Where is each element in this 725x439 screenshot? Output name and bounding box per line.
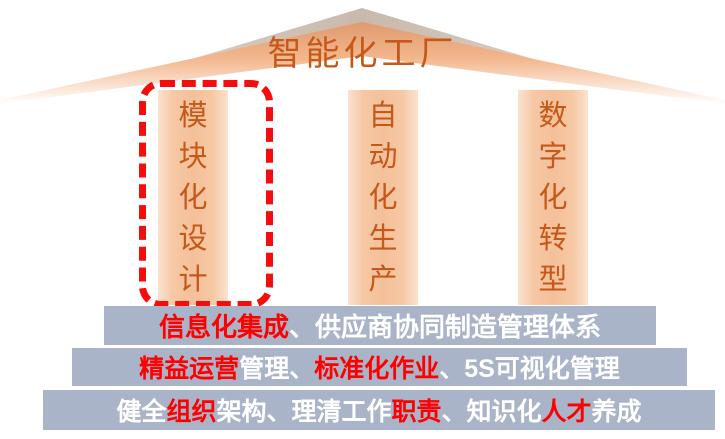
bar-segment: 标准化作业 (314, 349, 439, 385)
pillar-automated-production-label: 自 动 化 生 产 (348, 90, 418, 305)
pillar-automated-production[interactable]: 自 动 化 生 产 (348, 90, 418, 305)
pillar-char: 自 (368, 96, 397, 137)
pillar-char: 产 (368, 260, 397, 301)
pillar-modular-design[interactable]: 模 块 化 设 计 (158, 90, 228, 305)
pillar-char: 生 (368, 219, 397, 260)
bar-segment: 信息化集成 (159, 307, 289, 344)
pillar-digital-transformation-label: 数 字 化 转 型 (518, 90, 588, 305)
bar-segment: 组织 (166, 392, 216, 428)
bar-segment: 健全 (116, 392, 166, 428)
pillar-modular-design-label: 模 块 化 设 计 (158, 90, 228, 305)
pillar-char: 型 (538, 260, 567, 301)
pillar-char: 转 (538, 219, 567, 260)
bar-segment: 精益运营 (139, 349, 239, 385)
pillar-char: 化 (178, 178, 207, 219)
bar-segment: 架构、理清工作 (216, 392, 391, 428)
pillar-char: 动 (368, 137, 397, 178)
bar-segment: 职责 (391, 392, 441, 428)
bar-segment: 、5S可视化管理 (439, 349, 620, 385)
foundation-bar-organization[interactable]: 健全 组织 架构、理清工作 职责 、知识化 人才 养成 (43, 390, 715, 430)
pillar-char: 化 (368, 178, 397, 219)
pillar-char: 设 (178, 219, 207, 260)
foundation-bar-information[interactable]: 信息化集成 、供应商协同制造管理体系 (104, 306, 656, 345)
bar-segment: 、供应商协同制造管理体系 (289, 307, 601, 344)
page-title: 智能化工厂 (0, 26, 725, 75)
pillar-char: 计 (178, 260, 207, 301)
bar-segment: 管理、 (239, 349, 314, 385)
pillar-char: 化 (538, 178, 567, 219)
bar-segment: 、知识化 (442, 392, 542, 428)
bar-segment: 人才 (542, 392, 592, 428)
pillar-char: 模 (178, 96, 207, 137)
foundation-bar-operations[interactable]: 精益运营 管理、 标准化作业 、5S可视化管理 (72, 348, 687, 386)
pillar-char: 块 (178, 137, 207, 178)
pillar-char: 数 (538, 96, 567, 137)
pillar-char: 字 (538, 137, 567, 178)
smart-factory-diagram: 智能化工厂 模 块 化 设 计 自 动 化 生 产 数 字 化 转 型 (0, 0, 725, 439)
bar-segment: 养成 (592, 392, 642, 428)
pillar-digital-transformation[interactable]: 数 字 化 转 型 (518, 90, 588, 305)
